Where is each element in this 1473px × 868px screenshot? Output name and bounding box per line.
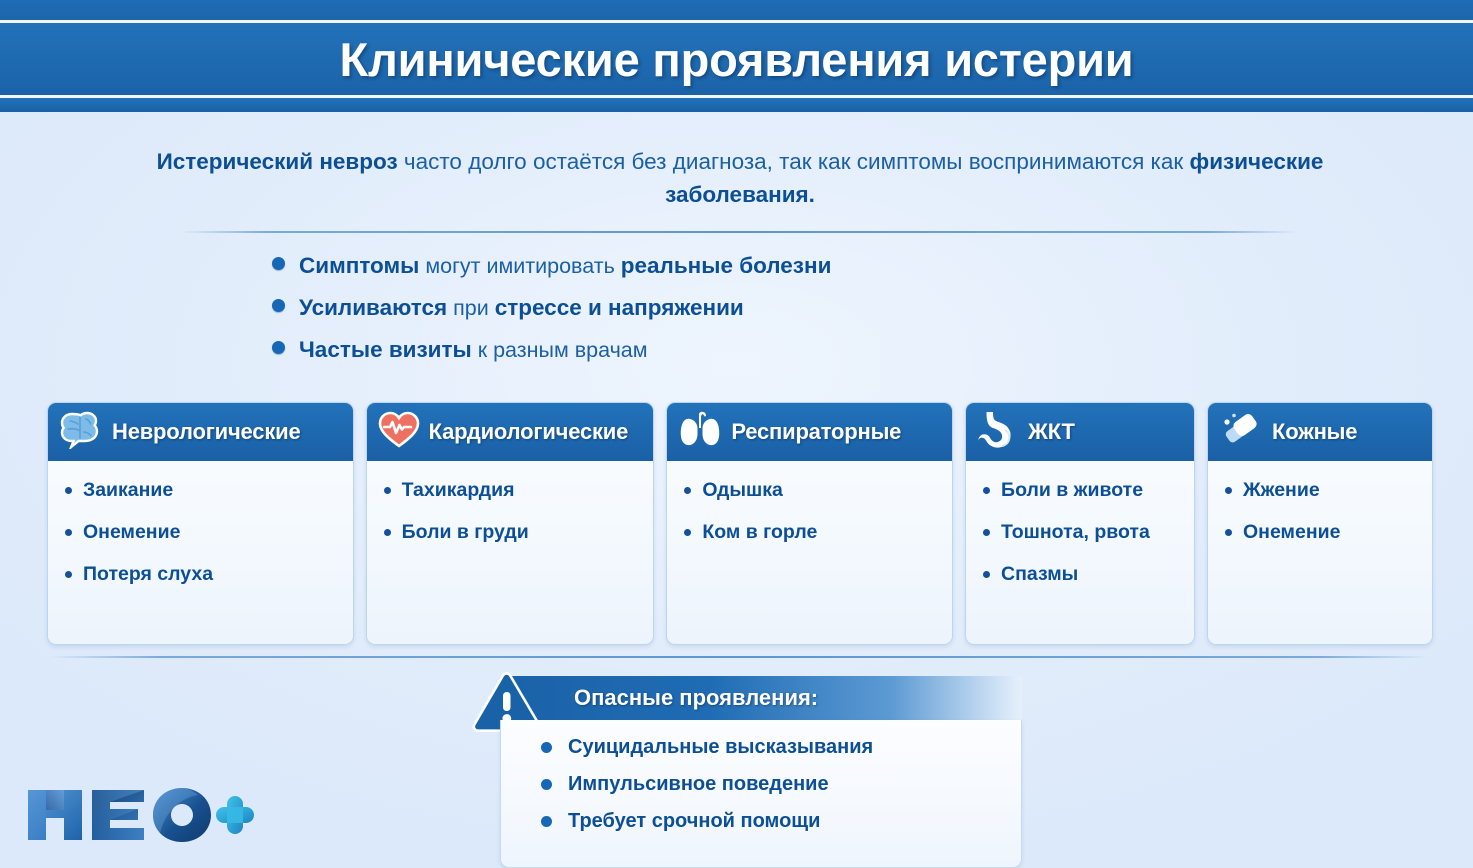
bullet-dot-icon bbox=[983, 487, 990, 494]
bullet-dot-icon bbox=[272, 257, 285, 270]
card-list-item: Тошнота, рвота bbox=[983, 520, 1186, 545]
key-point-text: Частые визиты к разным врачам bbox=[299, 337, 648, 363]
card-body: Боли в животе Тошнота, рвота Спазмы bbox=[966, 461, 1194, 612]
bullet-dot-icon bbox=[384, 529, 391, 536]
key-point-row: Симптомы могут имитировать реальные боле… bbox=[272, 253, 1172, 279]
banner-top-strip bbox=[0, 0, 1473, 20]
warning-list-item: Суицидальные высказывания bbox=[541, 736, 1021, 759]
key-point-bold-tail: реальные болезни bbox=[621, 253, 832, 278]
key-point-bold-lead: Симптомы bbox=[299, 253, 419, 278]
warning-header: Опасные проявления: bbox=[500, 676, 1022, 720]
warning-title: Опасные проявления: bbox=[574, 685, 818, 711]
warning-list-item: Импульсивное поведение bbox=[541, 773, 1021, 796]
card-item-label: Заикание bbox=[83, 478, 173, 503]
neo-plus-logo bbox=[20, 784, 256, 846]
brain-icon bbox=[59, 411, 103, 454]
divider-bottom bbox=[50, 656, 1428, 658]
card-list-item: Заикание bbox=[65, 478, 345, 503]
key-point-bold-lead: Усиливаются bbox=[299, 295, 447, 320]
divider-top bbox=[180, 231, 1298, 233]
warning-item-label: Суицидальные высказывания bbox=[568, 736, 873, 759]
intro-middle: часто долго остаётся без диагноза, так к… bbox=[398, 149, 1190, 174]
bullet-dot-icon bbox=[541, 779, 552, 790]
bullet-dot-icon bbox=[65, 487, 72, 494]
card-list-item: Боли в животе bbox=[983, 478, 1186, 503]
card-list-item: Тахикардия bbox=[384, 478, 646, 503]
bullet-dot-icon bbox=[272, 341, 285, 354]
card-list-item: Онемение bbox=[1225, 520, 1424, 545]
card-list-item: Онемение bbox=[65, 520, 345, 545]
warning-item-label: Импульсивное поведение bbox=[568, 773, 829, 796]
card-item-label: Жжение bbox=[1243, 478, 1320, 503]
bullet-dot-icon bbox=[541, 742, 552, 753]
intro-paragraph: Истерический невроз часто долго остаётся… bbox=[150, 145, 1330, 211]
card-list-item: Боли в груди bbox=[384, 520, 646, 545]
card-item-label: Боли в животе bbox=[1001, 478, 1143, 503]
warning-box: Опасные проявления: Суицидальные высказы… bbox=[462, 676, 1022, 868]
card-title: Респираторные bbox=[731, 419, 901, 445]
heart-pulse-icon bbox=[378, 411, 420, 454]
key-point-row: Частые визиты к разным врачам bbox=[272, 337, 1172, 363]
card-item-label: Одышка bbox=[702, 478, 783, 503]
infographic-page: Клинические проявления истерии Истеричес… bbox=[0, 0, 1473, 868]
card-list-item: Ком в горле bbox=[684, 520, 944, 545]
lungs-icon bbox=[678, 411, 722, 454]
card-list-item: Жжение bbox=[1225, 478, 1424, 503]
header-banner: Клинические проявления истерии bbox=[0, 0, 1473, 112]
warning-item-label: Требует срочной помощи bbox=[568, 810, 820, 833]
bullet-dot-icon bbox=[384, 487, 391, 494]
bullet-dot-icon bbox=[684, 487, 691, 494]
card-header: Респираторные bbox=[667, 403, 952, 461]
card-title: Неврологические bbox=[112, 419, 301, 445]
intro-lead: Истерический невроз bbox=[157, 149, 398, 174]
card-list-item: Потеря слуха bbox=[65, 562, 345, 587]
key-point-plain: при bbox=[447, 296, 495, 320]
card-item-label: Боли в груди bbox=[402, 520, 529, 545]
card-gastrointestinal[interactable]: ЖКТ Боли в животе Тошнота, рвота Спазмы bbox=[965, 402, 1195, 645]
card-body: Тахикардия Боли в груди bbox=[367, 461, 654, 570]
bullet-dot-icon bbox=[65, 529, 72, 536]
card-neurological[interactable]: Неврологические Заикание Онемение Потеря… bbox=[47, 402, 354, 645]
card-item-label: Онемение bbox=[1243, 520, 1340, 545]
page-title: Клинические проявления истерии bbox=[0, 23, 1473, 95]
card-body: Жжение Онемение bbox=[1208, 461, 1432, 570]
card-item-label: Потеря слуха bbox=[83, 562, 213, 587]
card-cardiological[interactable]: Кардиологические Тахикардия Боли в груди bbox=[366, 402, 655, 645]
bullet-dot-icon bbox=[65, 571, 72, 578]
key-point-text: Усиливаются при стрессе и напряжении bbox=[299, 295, 744, 321]
bullet-dot-icon bbox=[1225, 487, 1232, 494]
card-body: Заикание Онемение Потеря слуха bbox=[48, 461, 353, 612]
card-skin[interactable]: Кожные Жжение Онемение bbox=[1207, 402, 1433, 645]
bullet-dot-icon bbox=[541, 816, 552, 827]
symptom-card-row: Неврологические Заикание Онемение Потеря… bbox=[47, 402, 1433, 645]
warning-body: Суицидальные высказывания Импульсивное п… bbox=[500, 720, 1022, 868]
card-list-item: Одышка bbox=[684, 478, 944, 503]
card-item-label: Тошнота, рвота bbox=[1001, 520, 1150, 545]
key-point-bold-lead: Частые визиты bbox=[299, 337, 472, 362]
card-title: Кардиологические bbox=[429, 419, 629, 445]
card-header: Кардиологические bbox=[367, 403, 654, 461]
card-body: Одышка Ком в горле bbox=[667, 461, 952, 570]
warning-list-item: Требует срочной помощи bbox=[541, 810, 1021, 833]
bullet-dot-icon bbox=[983, 571, 990, 578]
bullet-dot-icon bbox=[272, 299, 285, 312]
key-point-plain: могут имитировать bbox=[419, 254, 620, 278]
card-title: Кожные bbox=[1272, 419, 1357, 445]
card-header: Неврологические bbox=[48, 403, 353, 461]
card-respiratory[interactable]: Респираторные Одышка Ком в горле bbox=[666, 402, 953, 645]
bullet-dot-icon bbox=[1225, 529, 1232, 536]
skin-patch-icon bbox=[1219, 411, 1263, 454]
bullet-dot-icon bbox=[983, 529, 990, 536]
banner-bottom-strip bbox=[0, 98, 1473, 112]
key-point-plain: к разным врачам bbox=[472, 338, 648, 362]
card-header: ЖКТ bbox=[966, 403, 1194, 461]
key-point-text: Симптомы могут имитировать реальные боле… bbox=[299, 253, 831, 279]
card-item-label: Онемение bbox=[83, 520, 180, 545]
key-point-row: Усиливаются при стрессе и напряжении bbox=[272, 295, 1172, 321]
stomach-icon bbox=[977, 410, 1019, 455]
card-item-label: Тахикардия bbox=[402, 478, 515, 503]
card-title: ЖКТ bbox=[1028, 419, 1075, 445]
card-list-item: Спазмы bbox=[983, 562, 1186, 587]
card-header: Кожные bbox=[1208, 403, 1432, 461]
key-point-bold-tail: стрессе и напряжении bbox=[495, 295, 744, 320]
bullet-dot-icon bbox=[684, 529, 691, 536]
key-points-list: Симптомы могут имитировать реальные боле… bbox=[272, 253, 1172, 379]
card-item-label: Спазмы bbox=[1001, 562, 1078, 587]
card-item-label: Ком в горле bbox=[702, 520, 817, 545]
